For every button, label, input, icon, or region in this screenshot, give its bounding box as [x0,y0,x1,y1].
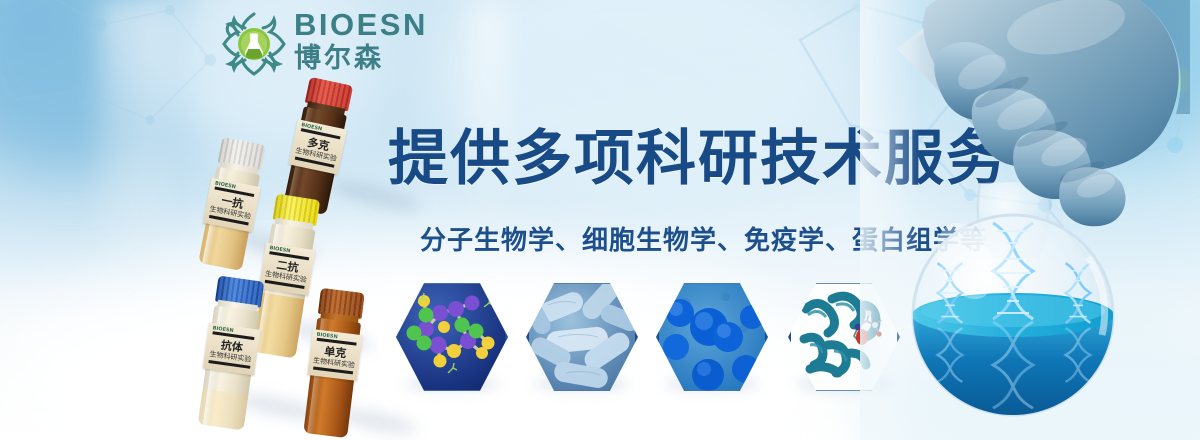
gloved-hand [890,0,1190,276]
marketing-banner: BIOESN 博尔森 提供多项科研技术服务 分子生物学、细胞生物学、免疫学、蛋白… [0,0,1200,440]
brand-logo[interactable]: BIOESN 博尔森 [218,6,418,84]
hexagon-border [526,281,638,393]
vial-label: BIOESN 一抗 生物科研实验 [203,178,260,233]
logo-wordmark: BIOESN 博尔森 [294,8,428,74]
art-blend-overlay [860,0,920,440]
cells-hexagon[interactable] [656,281,768,393]
molecule-hexagon[interactable] [396,281,508,393]
flask-in-circle-with-vines-icon [218,8,290,80]
vial-label: BIOESN 单克 生物科研实验 [308,329,363,381]
vial-label: BIOESN 多克 生物科研实验 [289,119,347,174]
bg-light-stripe [132,0,168,300]
vial-label: BIOESN 抗体 生物科研实验 [203,323,260,376]
bacteria-hexagon[interactable] [526,281,638,393]
logo-chinese-name: 博尔森 [294,44,428,74]
logo-english-name: BIOESN [294,8,428,42]
service-icon-row [396,281,904,393]
hexagon-border [656,281,768,393]
hexagon-border [396,281,508,393]
bg-light-stripe [100,0,136,300]
vial-label: BIOESN 二抗 生物科研实验 [259,243,315,296]
